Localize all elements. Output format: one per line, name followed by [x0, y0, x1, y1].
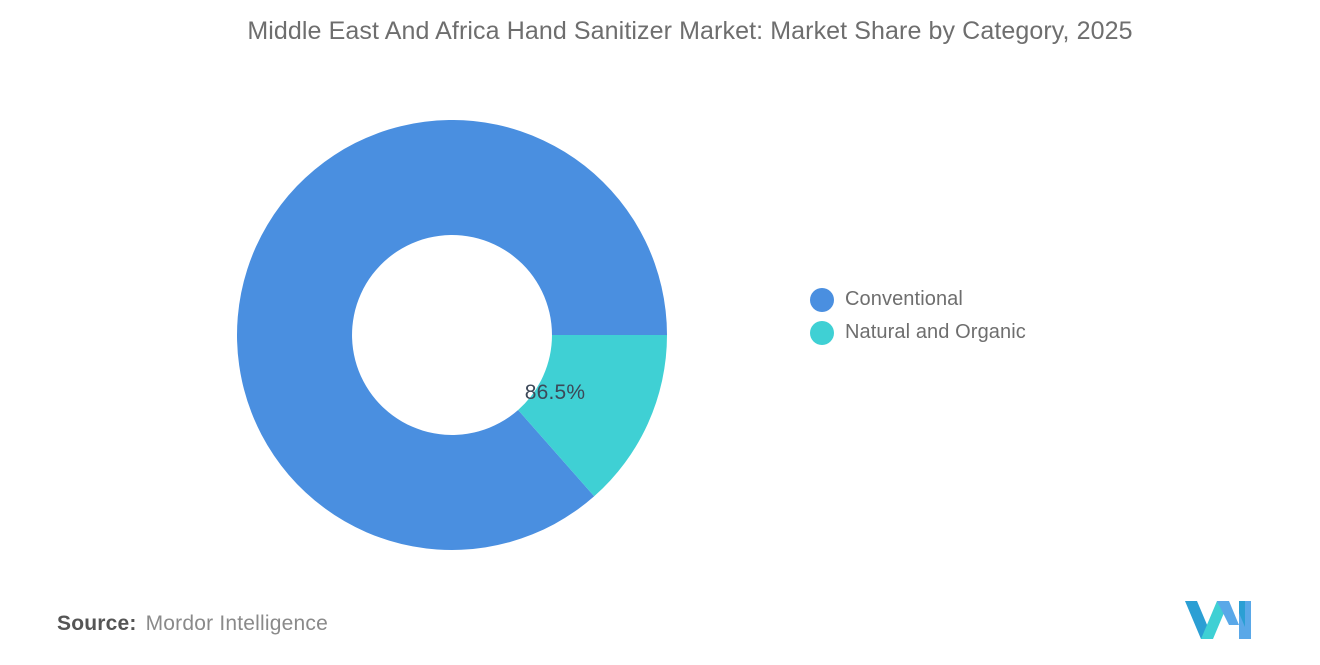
legend-item-conventional[interactable]: Conventional: [810, 283, 1026, 316]
legend-swatch-icon-natural-and-organic: [810, 321, 834, 345]
legend-item-natural-and-organic[interactable]: Natural and Organic: [810, 316, 1026, 349]
legend-label-conventional: Conventional: [845, 288, 963, 311]
chart-legend: Conventional Natural and Organic: [810, 283, 1026, 349]
source-value: Mordor Intelligence: [146, 612, 328, 636]
legend-swatch-icon-conventional: [810, 288, 834, 312]
slice-label-conventional: 86.5%: [505, 381, 605, 405]
chart-page: Middle East And Africa Hand Sanitizer Ma…: [0, 0, 1320, 665]
donut-chart-svg: [237, 120, 667, 550]
source-line: Source: Mordor Intelligence: [57, 612, 328, 636]
mi-logo-icon: [1183, 597, 1253, 643]
donut-chart: 86.5%: [237, 120, 667, 550]
mordor-intelligence-logo: [1183, 597, 1253, 643]
legend-label-natural-and-organic: Natural and Organic: [845, 321, 1026, 344]
page-title: Middle East And Africa Hand Sanitizer Ma…: [160, 12, 1220, 50]
source-label: Source:: [57, 612, 137, 636]
